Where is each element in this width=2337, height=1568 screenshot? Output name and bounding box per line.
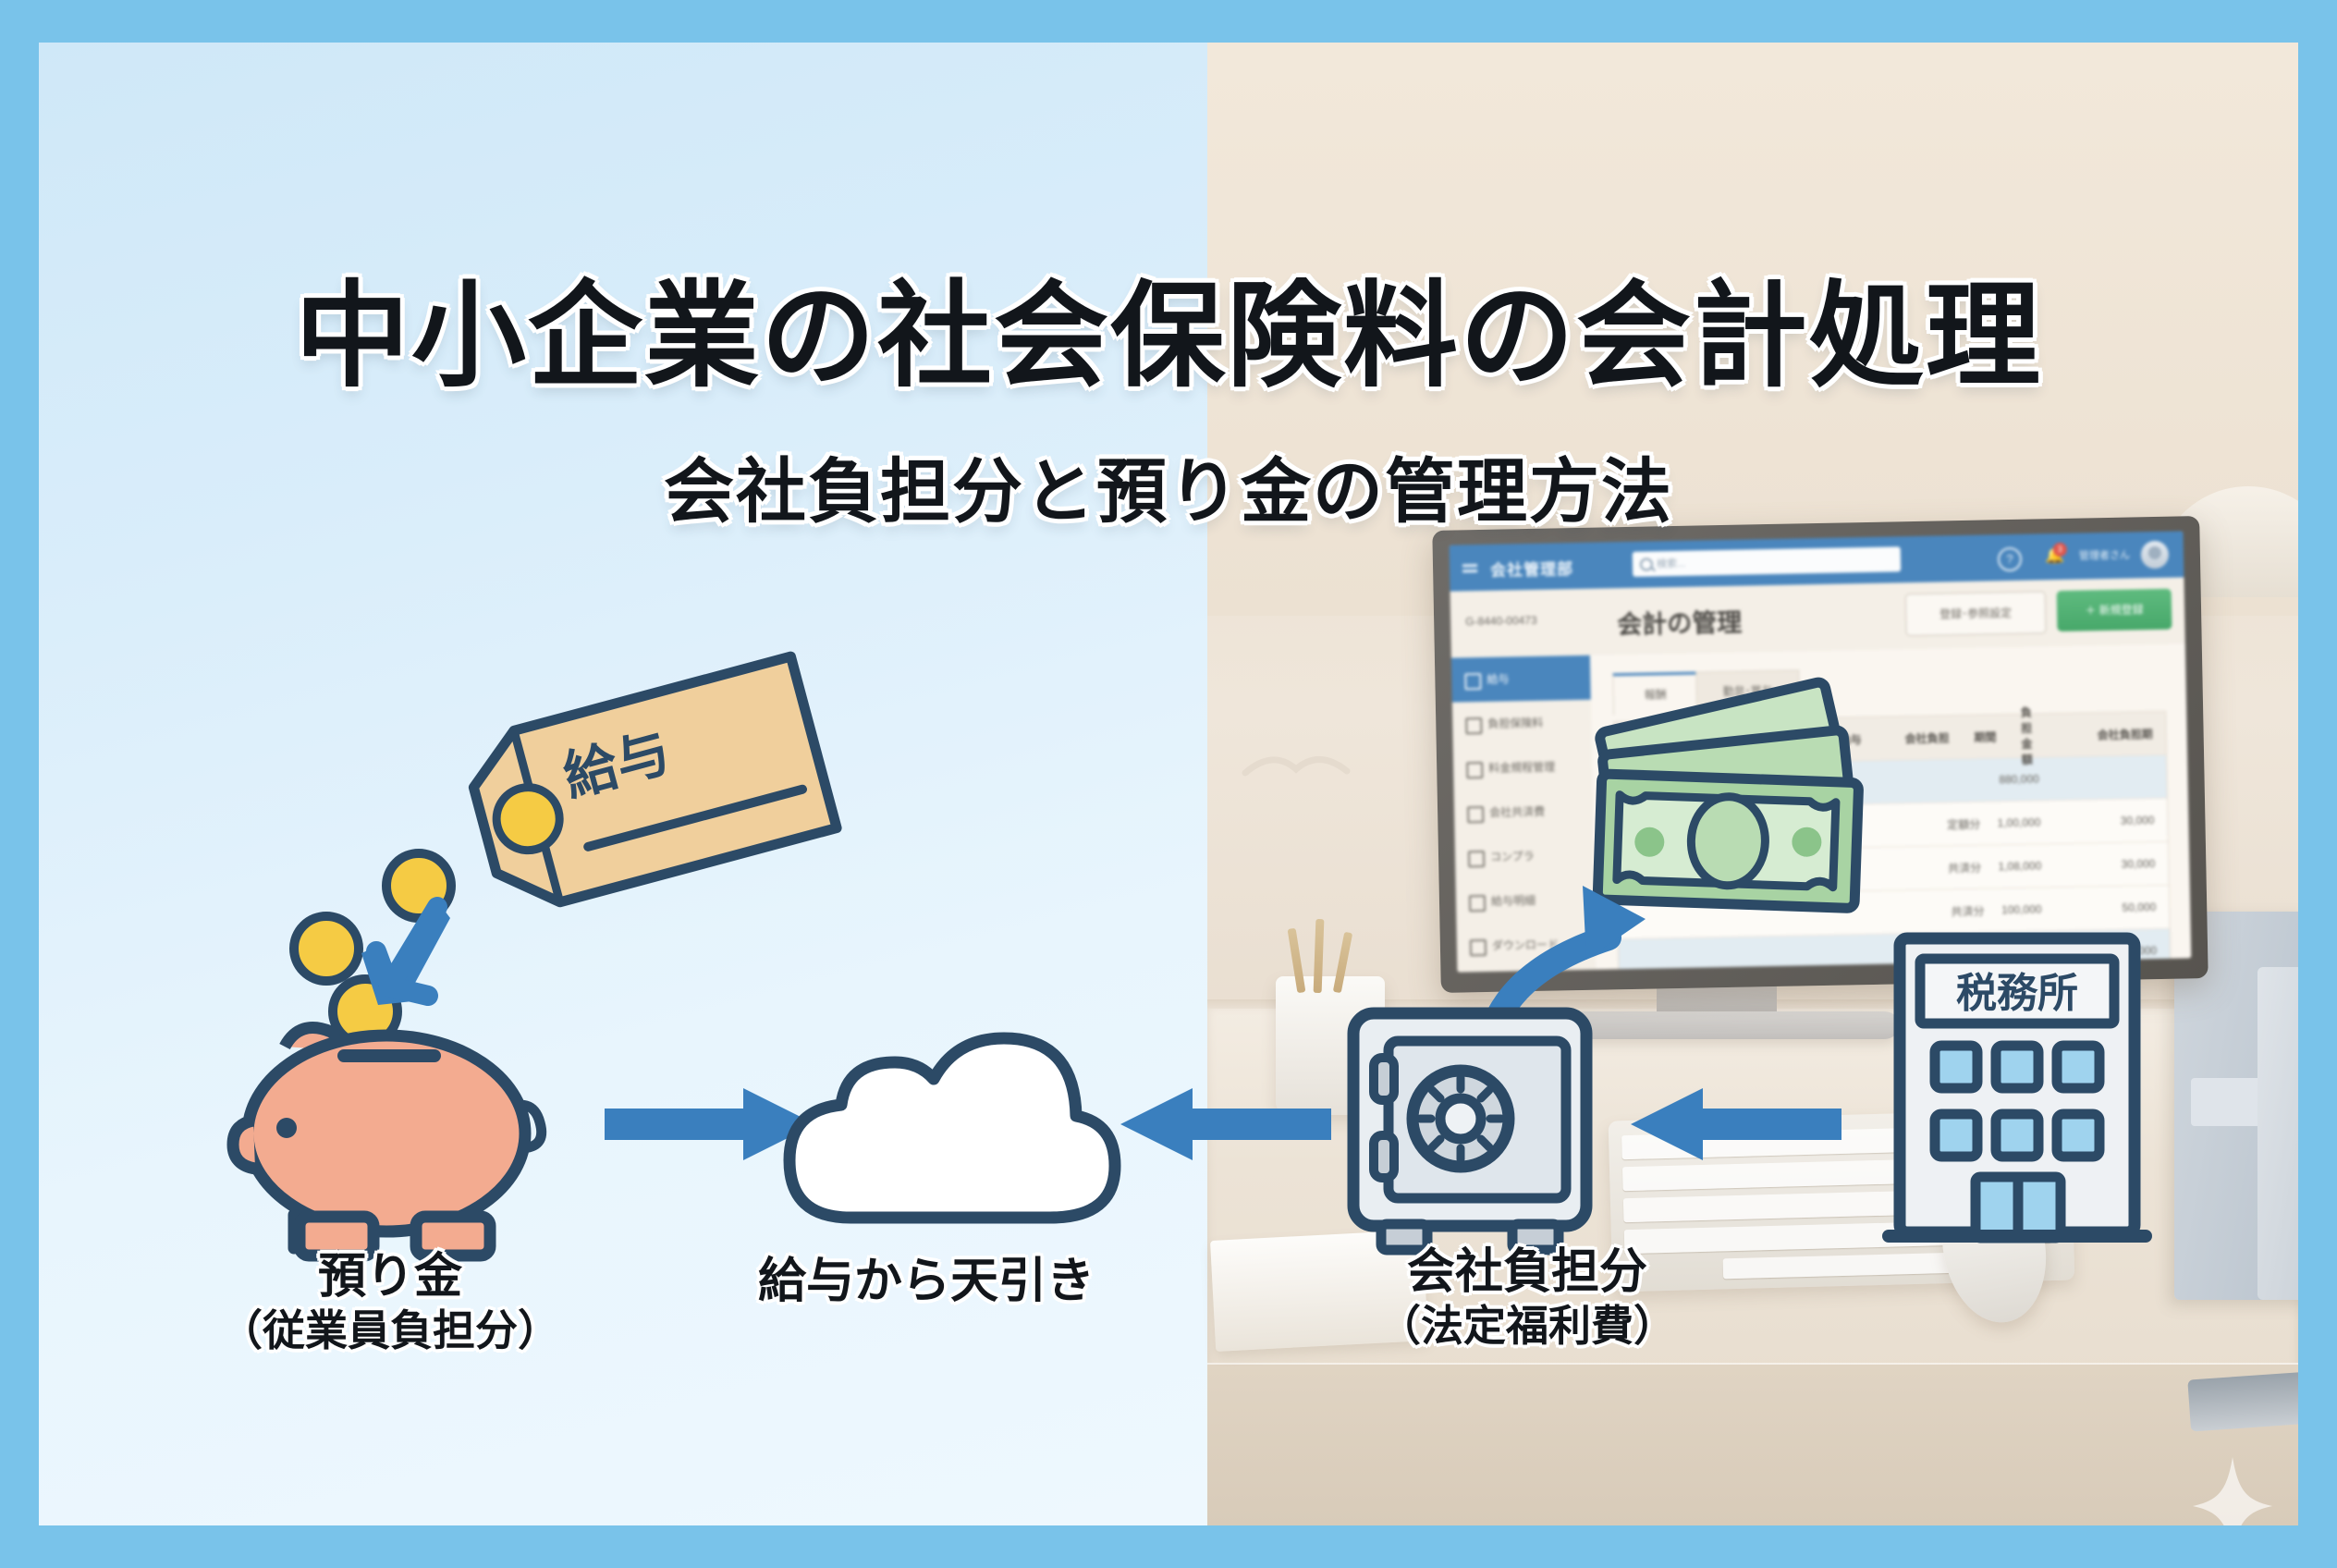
search-input[interactable]: 検索... (1633, 546, 1901, 577)
safe-illustration (1340, 1004, 1599, 1263)
sidebar-icon-3 (1467, 806, 1484, 823)
decor-bird (1241, 745, 1352, 782)
page-title: 会計の管理 (1617, 603, 1743, 642)
label-piggy-bank: 預り金 （従業員負担分） (94, 1249, 686, 1356)
label-cloud: 給与から天引き (686, 1254, 1167, 1310)
label-piggy-line1: 預り金 (94, 1249, 686, 1305)
cell-e: 50,000 (2058, 900, 2169, 915)
cloud-illustration (769, 999, 1111, 1231)
sidebar-item-1[interactable]: 負担保険料 (1452, 700, 1592, 747)
cell-a (1778, 956, 1848, 957)
tax-office-sign-label: 税務所 (1956, 970, 2078, 1017)
cell-e (2056, 777, 2167, 778)
label-company-line2: （法定福利費） (1250, 1301, 1805, 1351)
sidebar-item-2[interactable]: 料金規程管理 (1453, 744, 1593, 791)
poster-panel: 会社管理部 検索... ? 🔔 3 管理者さん G-8440-00473 会計の… (39, 43, 2298, 1525)
poster-canvas: 会社管理部 検索... ? 🔔 3 管理者さん G-8440-00473 会計の… (0, 0, 2337, 1568)
cell-d: 100,000 (2001, 902, 2059, 916)
col-5: 会社負担期 (2049, 725, 2166, 742)
sparkle-icon (2193, 1457, 2272, 1525)
cell-d: 880,000 (1999, 772, 2056, 786)
label-cloud-line1: 給与から天引き (686, 1254, 1167, 1310)
label-company-share: 会社負担分 （法定福利費） (1250, 1244, 1805, 1352)
cell-d: 1,00,000 (1997, 815, 2057, 829)
tax-office-illustration: 税務所 (1883, 925, 2151, 1258)
sidebar-icon-2 (1466, 762, 1483, 778)
sidebar-item-3[interactable]: 会社共済費 (1454, 789, 1594, 836)
new-entry-button[interactable]: ＋ 新規登録 (2057, 589, 2172, 631)
salary-envelope-illustration: 給与 (436, 653, 871, 958)
arrow-safe-to-cloud (1119, 1083, 1331, 1166)
page-subtitle: 会社負担分と預り金の管理方法 (39, 435, 2298, 536)
piggy-bank-illustration (196, 995, 584, 1272)
sidebar-icon-4 (1468, 851, 1485, 867)
sidebar-label-0: 給与 (1487, 672, 1509, 685)
menu-icon[interactable] (1462, 564, 1477, 567)
cell-d: 1,08,000 (1998, 859, 2058, 873)
cell-e: 30,000 (2057, 814, 2167, 828)
avatar[interactable] (2141, 541, 2170, 570)
sidebar-label-2: 料金規程管理 (1488, 761, 1555, 775)
desk-front (1207, 1365, 2298, 1525)
label-piggy-line2: （従業員負担分） (94, 1305, 686, 1355)
cell-c: 共済分 (1931, 859, 1999, 876)
col-3: 期間 (1949, 728, 2021, 744)
help-icon[interactable]: ? (1998, 547, 2022, 571)
cell-e: 30,000 (2058, 857, 2168, 872)
sidebar-label-1: 負担保険料 (1487, 717, 1543, 730)
app-brand: 会社管理部 (1490, 556, 1573, 581)
page-title-headline: 中小企業の社会保険料の会計処理 (39, 242, 2298, 409)
sidebar-label-4: コンプラ (1490, 850, 1535, 864)
cell-c: 共済分 (1934, 902, 2002, 919)
sidebar-item-0[interactable]: 給与 (1451, 655, 1591, 703)
sidebar-icon-1 (1465, 717, 1482, 734)
sidebar-icon-0 (1464, 673, 1481, 690)
settings-button[interactable]: 登録･参照設定 (1905, 591, 2047, 636)
org-id: G-8440-00473 (1465, 614, 1537, 628)
user-name: 管理者さん (2079, 547, 2130, 563)
search-placeholder: 検索... (1657, 556, 1685, 571)
cell-c: 定額分 (1930, 815, 1998, 832)
cell-c (1931, 779, 1999, 780)
arrow-taxoffice-to-safe (1629, 1083, 1841, 1166)
search-icon (1640, 557, 1653, 570)
sidebar-label-3: 会社共済費 (1489, 805, 1545, 819)
label-company-line1: 会社負担分 (1250, 1244, 1805, 1301)
notification-badge: 3 (2053, 543, 2067, 557)
col-4: 負担金額 (2021, 704, 2049, 767)
binder-small (2257, 967, 2298, 1300)
